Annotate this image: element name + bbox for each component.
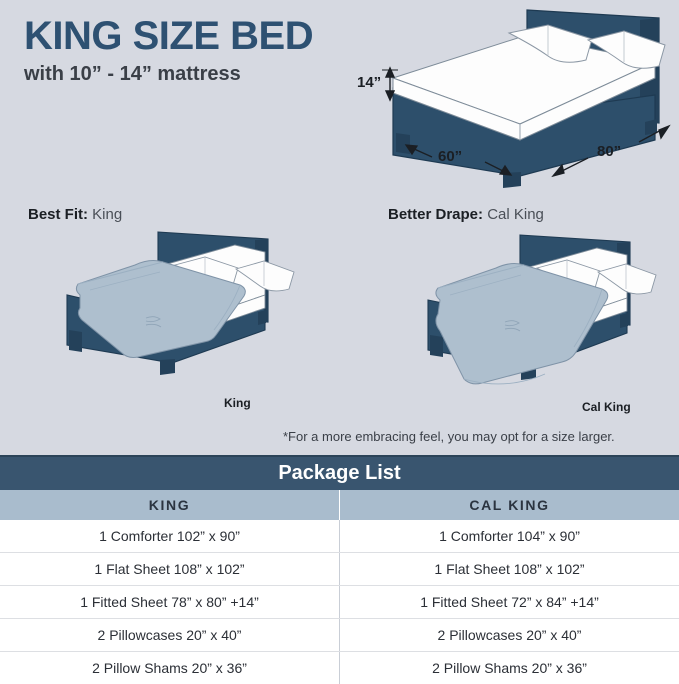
- table-cell: 1 Comforter 104” x 90”: [340, 520, 679, 552]
- table-row: 2 Pillow Shams 20” x 36”2 Pillow Shams 2…: [0, 652, 679, 684]
- best-fit-caption: Best Fit: King: [28, 206, 122, 223]
- better-drape-caption: Better Drape: Cal King: [388, 206, 544, 223]
- dimension-height-label: 14”: [357, 74, 381, 91]
- cal-king-bed-label: Cal King: [582, 400, 631, 414]
- dimension-length-label: 80”: [597, 143, 621, 160]
- dimension-width-label: 60”: [438, 148, 462, 165]
- better-drape-caption-label: Better Drape:: [388, 206, 483, 223]
- table-cell: 2 Pillow Shams 20” x 36”: [0, 652, 340, 684]
- hero-bed-illustration: [382, 10, 669, 188]
- table-cell: 1 Flat Sheet 108” x 102”: [340, 553, 679, 585]
- footnote-text: *For a more embracing feel, you may opt …: [283, 429, 615, 444]
- table-row: 1 Fitted Sheet 78” x 80” +14”1 Fitted Sh…: [0, 586, 679, 619]
- table-cell: 2 Pillowcases 20” x 40”: [340, 619, 679, 651]
- column-header-cal-king: CAL KING: [340, 490, 679, 520]
- column-header-king: KING: [0, 490, 340, 520]
- table-cell: 1 Flat Sheet 108” x 102”: [0, 553, 340, 585]
- better-drape-caption-value: Cal King: [487, 206, 544, 223]
- table-cell: 1 Fitted Sheet 72” x 84” +14”: [340, 586, 679, 618]
- table-cell: 2 Pillowcases 20” x 40”: [0, 619, 340, 651]
- table-row: 1 Comforter 102” x 90”1 Comforter 104” x…: [0, 520, 679, 553]
- best-fit-caption-value: King: [92, 206, 122, 223]
- king-bed-illustration: [67, 232, 294, 375]
- package-list-title: Package List: [0, 455, 679, 490]
- package-list-body: 1 Comforter 102” x 90”1 Comforter 104” x…: [0, 520, 679, 684]
- infographic-canvas: KING SIZE BED with 10” - 14” mattress 14…: [0, 0, 679, 679]
- best-fit-caption-label: Best Fit:: [28, 206, 88, 223]
- table-cell: 1 Comforter 102” x 90”: [0, 520, 340, 552]
- page-subtitle: with 10” - 14” mattress: [24, 63, 241, 86]
- cal-king-bed-illustration: [428, 235, 656, 384]
- table-cell: 1 Fitted Sheet 78” x 80” +14”: [0, 586, 340, 618]
- page-title: KING SIZE BED: [24, 16, 313, 56]
- package-list-column-headers: KING CAL KING: [0, 490, 679, 520]
- table-row: 1 Flat Sheet 108” x 102”1 Flat Sheet 108…: [0, 553, 679, 586]
- package-list-table: Package List KING CAL KING 1 Comforter 1…: [0, 455, 679, 684]
- table-row: 2 Pillowcases 20” x 40”2 Pillowcases 20”…: [0, 619, 679, 652]
- king-bed-label: King: [224, 396, 251, 410]
- table-cell: 2 Pillow Shams 20” x 36”: [340, 652, 679, 684]
